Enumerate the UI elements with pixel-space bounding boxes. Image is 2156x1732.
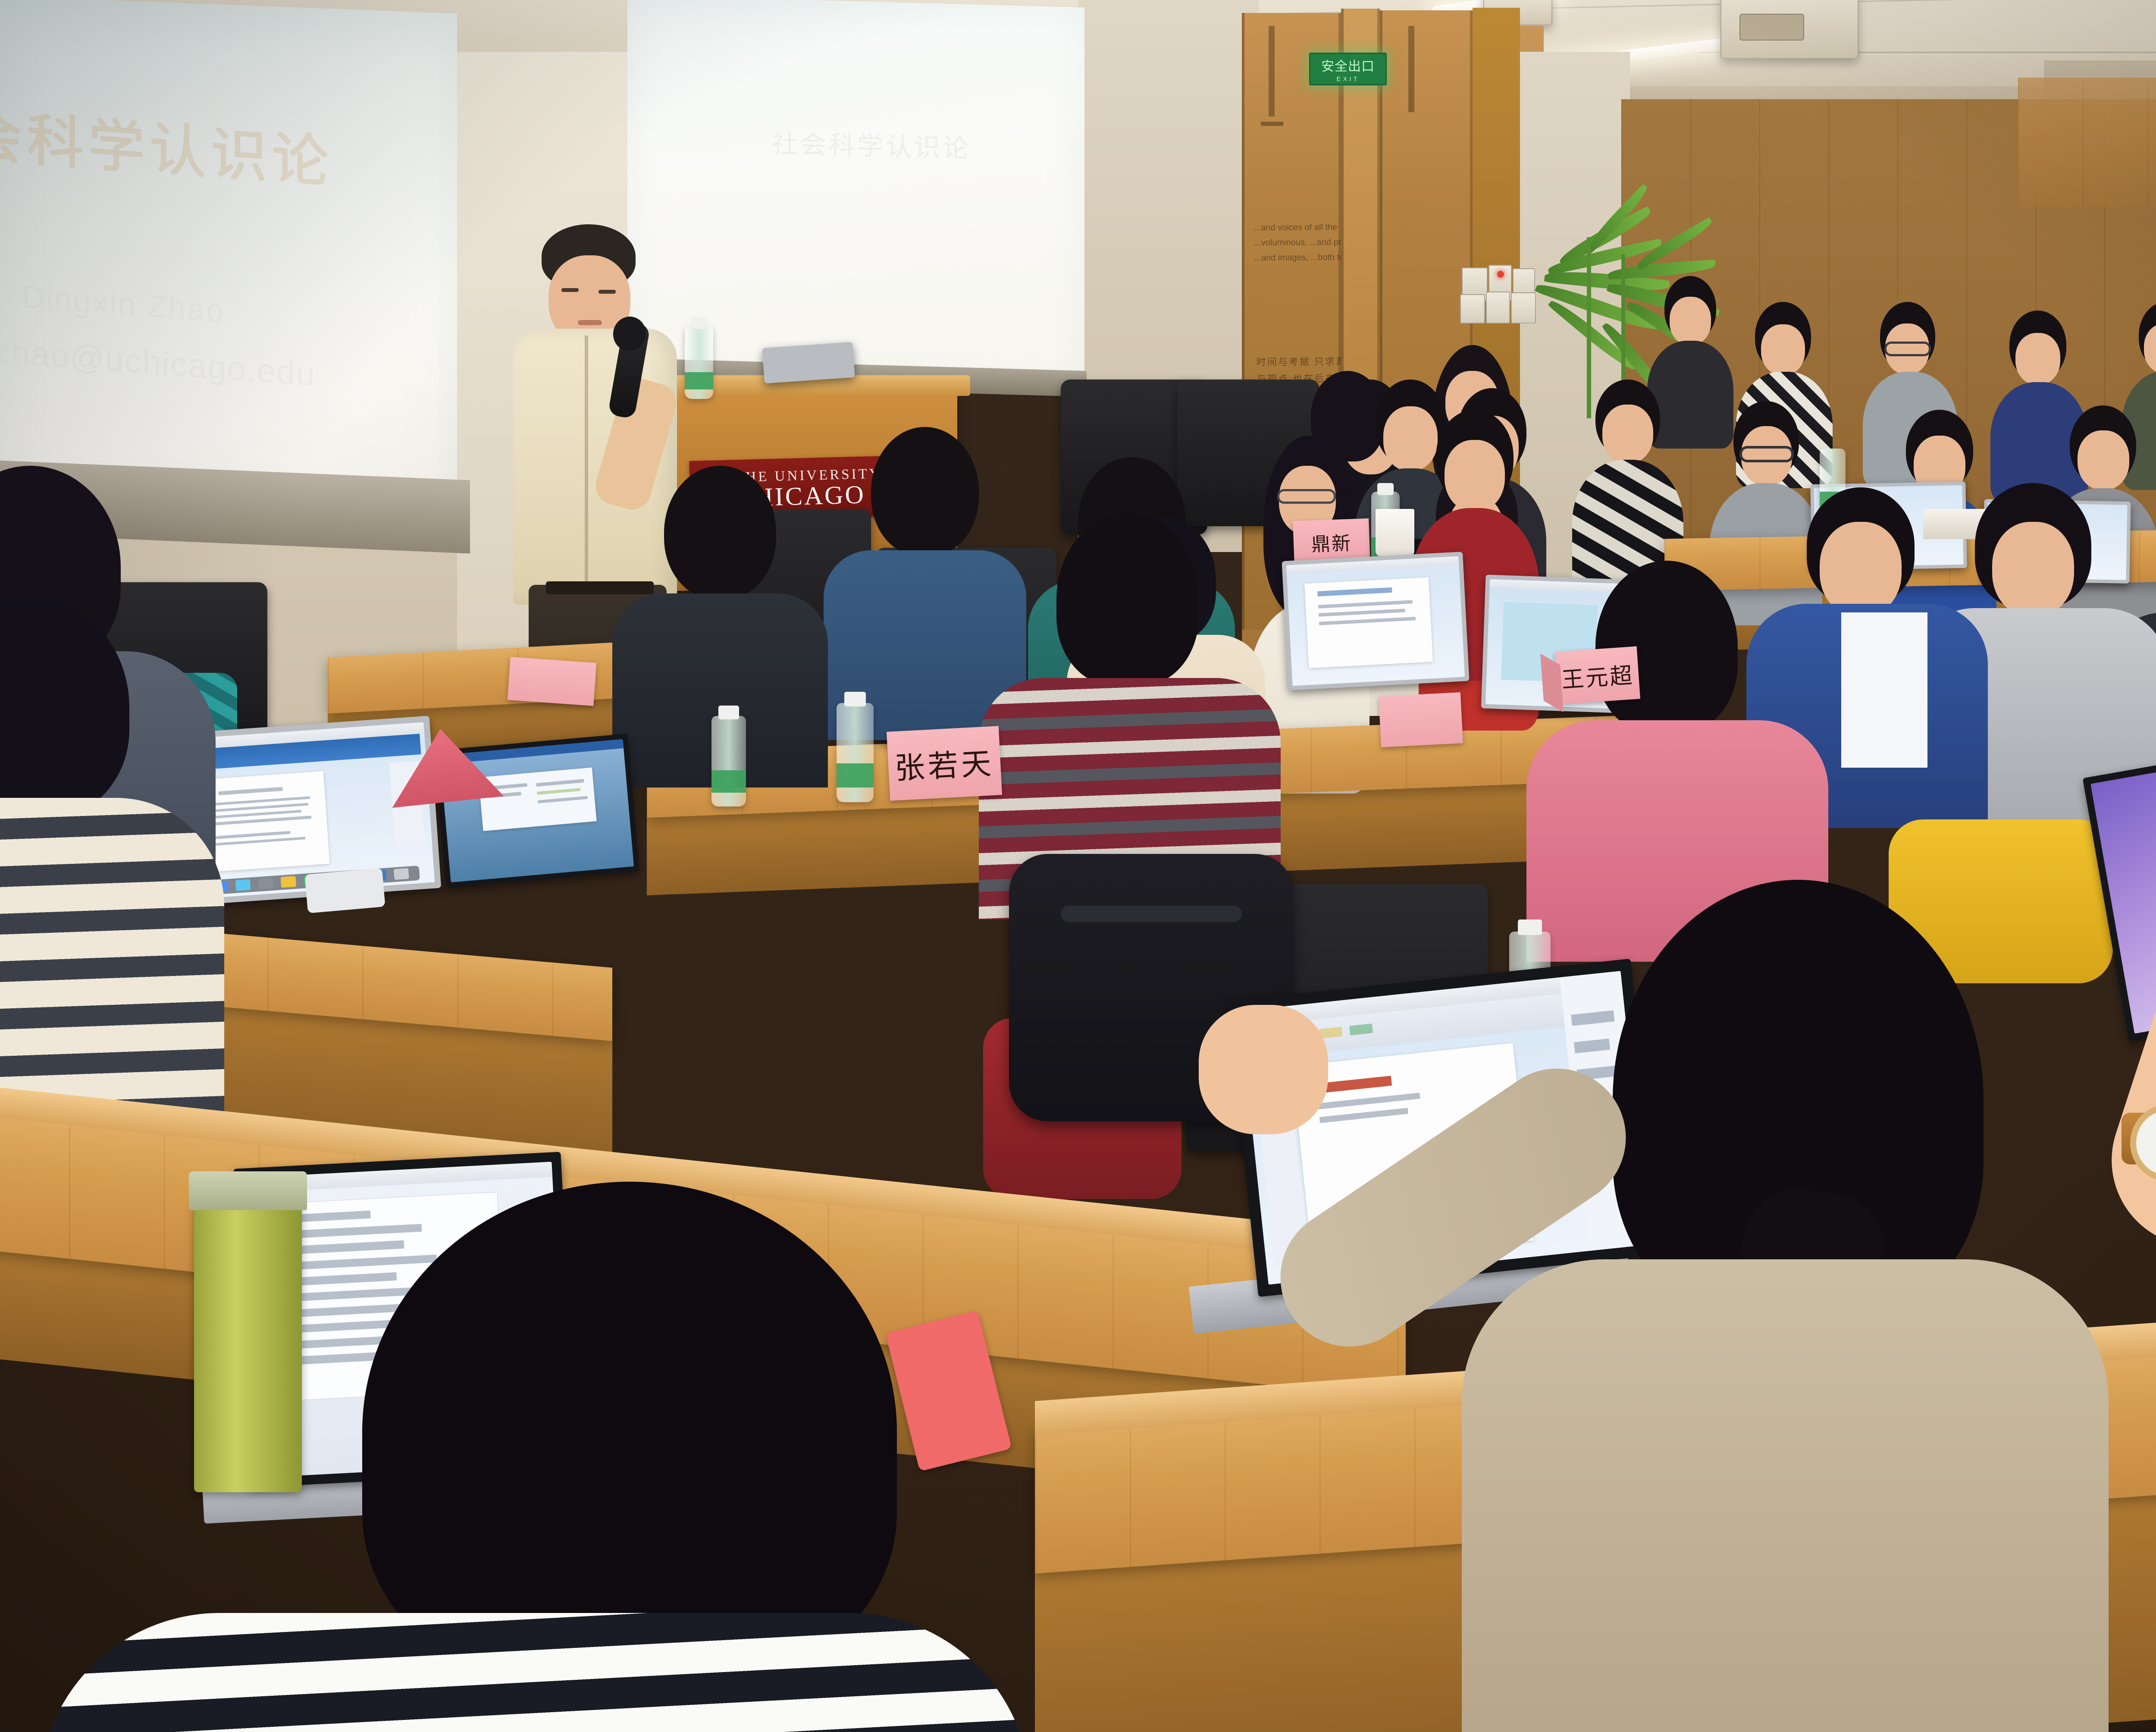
laptop-screen [1286,556,1465,686]
water-bottle[interactable] [711,716,746,806]
gold-thermos[interactable] [194,1199,302,1492]
speaker-presenter [500,224,681,647]
person-shirt [1841,612,1927,768]
audience-face [1670,297,1711,345]
dock-icon-settings[interactable] [258,878,273,889]
emergency-exit-sign: 安全出口 EXIT [1309,53,1387,85]
person-striped-shirt [39,1613,1031,1732]
thermos-cap[interactable] [189,1171,307,1210]
main-projection-screen: 会科学认识论 Dingxin Zhao dzhao@uchicago.edu [0,0,457,524]
name-card: 王元超 [1555,646,1640,705]
glasses-icon [1277,489,1336,504]
slide-presenter-name: Dingxin Zhao [22,278,225,329]
exit-sign-cn-label: 安全出口 [1321,56,1375,75]
person-face [1992,522,2074,617]
ceiling-projector [1720,0,1858,59]
bottle-cap [718,706,739,719]
speaker-eye-right [599,290,616,294]
projector-lens [1739,14,1804,41]
door-groove [1408,26,1414,112]
smartphone-white[interactable] [304,868,385,913]
name-card-blank [508,657,596,706]
bottle-cap [691,317,707,329]
back-wall-upper [2018,78,2156,207]
laptop-document-page [1304,577,1433,668]
audience-face [1602,405,1653,463]
attendee-head [664,466,776,599]
audience-torso [1647,341,1733,449]
speaker-eye-left [561,288,579,292]
laptop-notes[interactable] [1282,552,1469,690]
name-card [1379,692,1463,747]
person-hair [362,1182,897,1682]
dock-icon-trash[interactable] [394,868,409,880]
person-hand [1199,1005,1328,1134]
dock-icon-notes[interactable] [281,876,296,888]
laptop-document-page [200,771,329,872]
backpack-strap [1061,906,1242,922]
bottle-label [685,372,713,389]
podium-laptop[interactable] [762,342,855,383]
audience-face [2078,430,2129,490]
door-groove [1269,26,1275,116]
audience-face [2015,333,2060,385]
slide-presenter-email: dzhao@uchicago.edu [0,330,316,394]
paper-cup[interactable] [1376,509,1414,556]
slide-title-main: 会科学认识论 [0,90,333,199]
lecture-hall-photo: ...and voices of all the ...voluminous, … [0,0,2156,1732]
attendee-head [871,427,979,556]
laptop-window [479,768,597,831]
audience-face [1761,324,1805,375]
person-face [1820,522,1902,617]
name-card-text: 王元超 [1555,646,1640,705]
bottle-cap [1518,919,1542,935]
water-bottle[interactable] [685,326,713,399]
slide-title-secondary: 社会科学认识论 [772,122,971,165]
name-card: 张若天 [887,726,1002,800]
name-card-text: 张若天 [887,726,1002,800]
bottle-cap [1377,483,1394,495]
glasses-icon [1739,446,1794,462]
name-card-text [1379,692,1463,747]
water-bottle[interactable] [837,703,874,802]
name-card [508,657,596,706]
speaker-mouth [578,320,602,325]
bottle-label [837,763,874,788]
glasses-icon [1884,342,1931,356]
bottle-cap [844,692,866,706]
speaker-belt [546,581,654,594]
person-hair [1595,561,1738,733]
dock-icon-safari[interactable] [235,879,251,891]
attendee-hair [1056,513,1199,686]
attendee-face [1383,406,1438,471]
attendee-face [1445,440,1505,511]
exit-sign-en-label: EXIT [1336,75,1359,83]
person-sweater [1462,1259,2109,1732]
shirt-placket [585,336,588,594]
bottle-label [711,770,746,793]
door-handle[interactable] [1261,122,1283,126]
